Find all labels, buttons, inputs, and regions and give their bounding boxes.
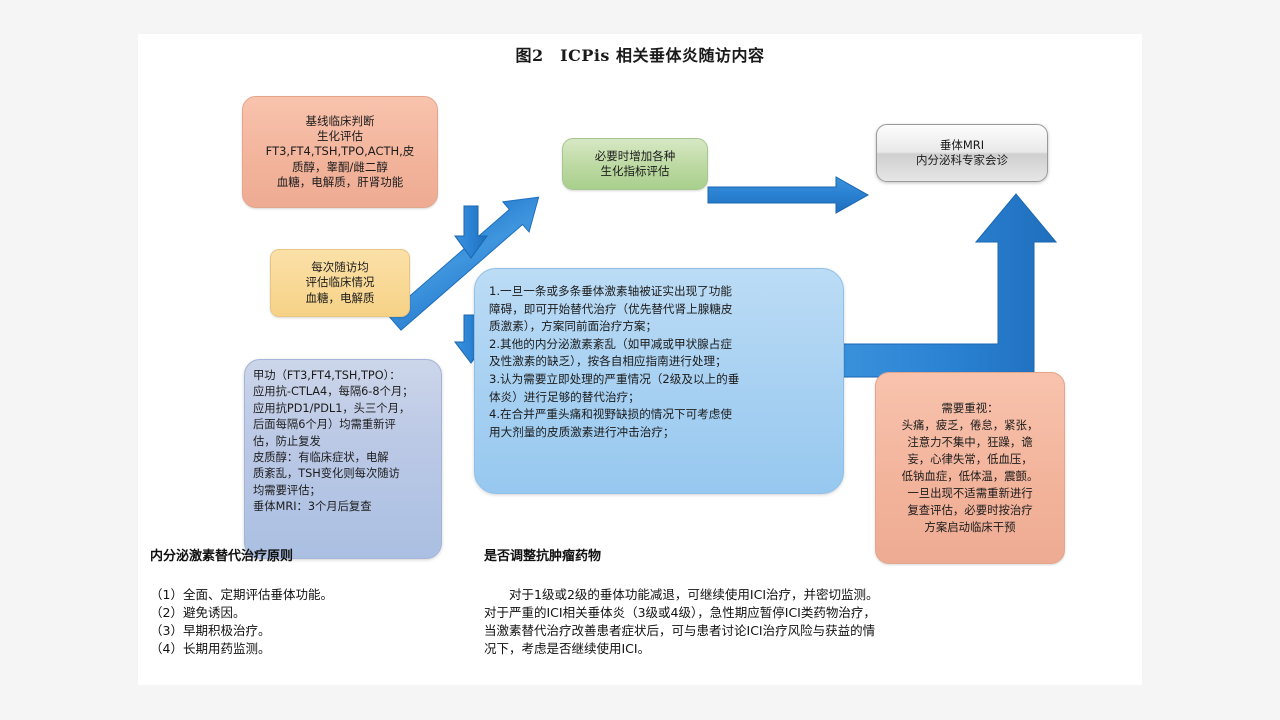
node-treatment-principles-panel[interactable]: 1.一旦一条或多条垂体激素轴被证实出现了功能 障碍，即可开始替代治疗（优先替代肾… xyxy=(474,268,844,494)
screenshot-root: 图2 ICPis 相关垂体炎随访内容 xyxy=(0,0,1280,720)
note-right-body: 对于1级或2级的垂体功能减退，可继续使用ICI治疗，并密切监测。 对于严重的IC… xyxy=(484,587,879,656)
note-right-title: 是否调整抗肿瘤药物 xyxy=(484,548,1124,567)
node-baseline-assessment[interactable]: 基线临床判断 生化评估 FT3,FT4,TSH,TPO,ACTH,皮 质醇，睾酮… xyxy=(242,96,438,208)
node-pituitary-mri-consultation[interactable]: 垂体MRI 内分泌科专家会诊 xyxy=(876,124,1048,182)
node-each-visit-assessment[interactable]: 每次随访均 评估临床情况 血糖，电解质 xyxy=(270,249,410,317)
note-right: 是否调整抗肿瘤药物 对于1级或2级的垂体功能减退，可继续使用ICI治疗，并密切监… xyxy=(484,530,1124,659)
note-left-body: （1）全面、定期评估垂体功能。 （2）避免诱因。 （3）早期积极治疗。 （4）长… xyxy=(150,587,333,656)
node-extra-biochemical-markers[interactable]: 必要时增加各种 生化指标评估 xyxy=(562,138,708,190)
figure-title: 图2 ICPis 相关垂体炎随访内容 xyxy=(138,42,1142,66)
note-left: 内分泌激素替代治疗原则 （1）全面、定期评估垂体功能。 （2）避免诱因。 （3）… xyxy=(150,530,450,659)
document-page: 图2 ICPis 相关垂体炎随访内容 xyxy=(138,34,1142,685)
arrow-baseline-to-each-visit xyxy=(454,206,488,260)
node-follow-up-detail-panel[interactable]: 甲功（FT3,FT4,TSH,TPO）： 应用抗-CTLA4，每隔6-8个月； … xyxy=(244,359,442,559)
note-left-title: 内分泌激素替代治疗原则 xyxy=(150,548,450,567)
